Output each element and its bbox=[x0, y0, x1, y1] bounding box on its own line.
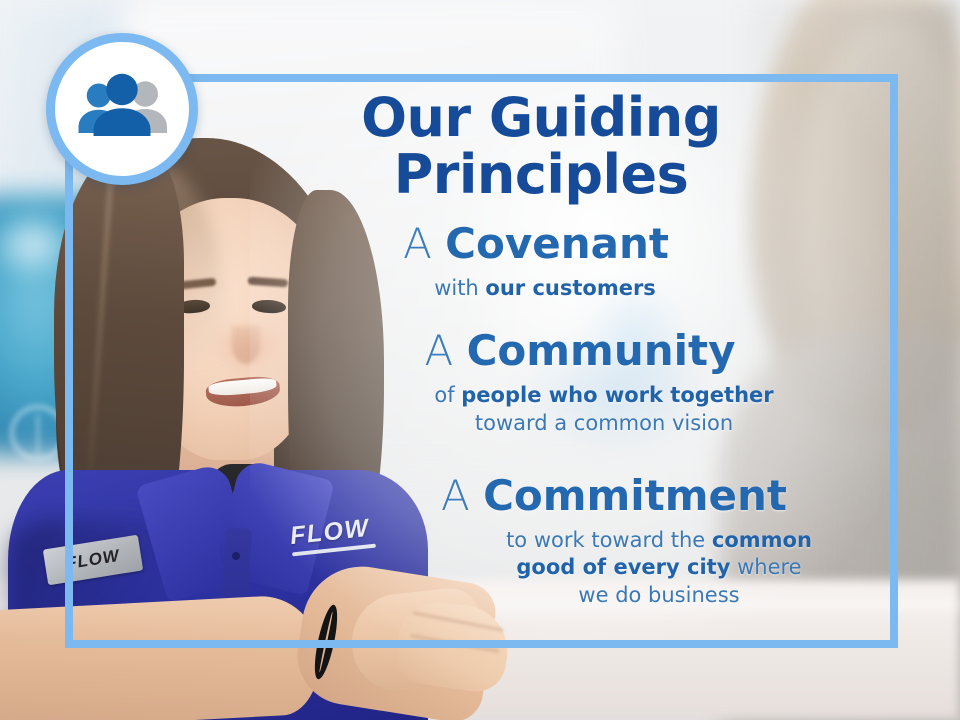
principle-covenant: A Covenant with our customers bbox=[202, 221, 870, 302]
subtext-line: with our customers bbox=[220, 275, 870, 303]
subtext-part: where bbox=[730, 555, 801, 579]
subtext-part: to work toward the bbox=[506, 528, 712, 552]
principle-subtext: with our customers bbox=[220, 275, 870, 303]
principle-keyword: Covenant bbox=[445, 219, 669, 268]
principle-headline: A Community bbox=[290, 328, 870, 373]
subtext-part-bold: people who work together bbox=[461, 383, 773, 407]
principle-article: A bbox=[441, 471, 470, 520]
principle-community: A Community of people who work together … bbox=[290, 328, 870, 437]
principle-subtext: to work toward the common good of every … bbox=[448, 527, 870, 610]
principle-commitment: A Commitment to work toward the common g… bbox=[358, 473, 870, 610]
name-badge-text: FLOW bbox=[65, 546, 122, 574]
people-group-icon bbox=[74, 73, 170, 145]
principle-article: A bbox=[403, 219, 432, 268]
principle-keyword: Commitment bbox=[483, 471, 787, 520]
people-badge bbox=[46, 33, 198, 185]
subtext-part-bold: our customers bbox=[485, 276, 655, 300]
principle-headline: A Covenant bbox=[202, 221, 870, 266]
subtext-line: good of every city where bbox=[448, 554, 870, 582]
principle-keyword: Community bbox=[467, 326, 736, 375]
subtext-part-bold: common bbox=[712, 528, 812, 552]
page-title: Our Guiding Principles bbox=[212, 90, 870, 203]
principle-subtext: of people who work together toward a com… bbox=[338, 382, 870, 437]
subtext-part-bold: good of every city bbox=[516, 555, 730, 579]
subtext-line: we do business bbox=[448, 582, 870, 610]
message-block: Our Guiding Principles A Covenant with o… bbox=[180, 78, 870, 638]
subtext-line: of people who work together bbox=[338, 382, 870, 410]
subtext-line: to work toward the common bbox=[448, 527, 870, 555]
principle-article: A bbox=[425, 326, 454, 375]
subtext-part: of bbox=[434, 383, 461, 407]
principle-headline: A Commitment bbox=[358, 473, 870, 518]
subtext-line: toward a common vision bbox=[338, 410, 870, 438]
subtext-part: with bbox=[434, 276, 485, 300]
promo-graphic: FLOW FLOW Our Guiding Principles bbox=[0, 0, 960, 720]
